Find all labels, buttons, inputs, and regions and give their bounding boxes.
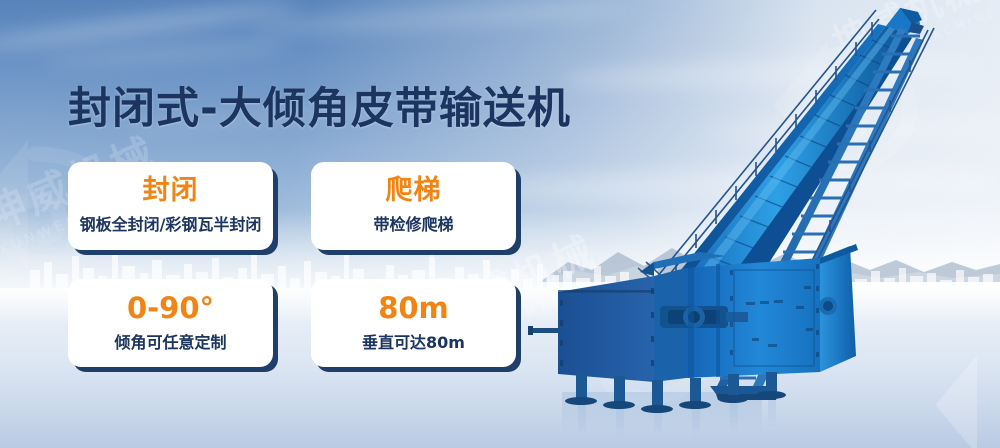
feature-card-sealed[interactable]: 封闭 钢板全封闭/彩钢瓦半封闭 bbox=[68, 162, 273, 250]
feature-subtext: 倾角可任意定制 bbox=[114, 329, 226, 353]
feature-headline: 0-90° bbox=[127, 293, 214, 323]
feature-headline: 封闭 bbox=[143, 177, 199, 205]
page-title: 封闭式-大倾角皮带输送机 bbox=[68, 74, 571, 136]
feature-subtext: 垂直可达80m bbox=[362, 329, 465, 353]
feature-headline: 80m bbox=[378, 293, 449, 323]
banner-stage: 坤威机械 KUNWEI MACHINE 坤威机械 KUNWEI MACHINE … bbox=[0, 0, 1000, 448]
belt-conveyor-illustration bbox=[520, 0, 1000, 448]
feature-subtext: 钢板全封闭/彩钢瓦半封闭 bbox=[80, 211, 262, 235]
feature-headline: 爬梯 bbox=[386, 177, 442, 205]
feature-card-height[interactable]: 80m 垂直可达80m bbox=[311, 279, 516, 367]
feature-card-ladder[interactable]: 爬梯 带检修爬梯 bbox=[311, 162, 516, 250]
cloud-streak bbox=[40, 39, 290, 67]
feature-card-angle[interactable]: 0-90° 倾角可任意定制 bbox=[68, 279, 273, 367]
feature-subtext: 带检修爬梯 bbox=[373, 211, 453, 235]
